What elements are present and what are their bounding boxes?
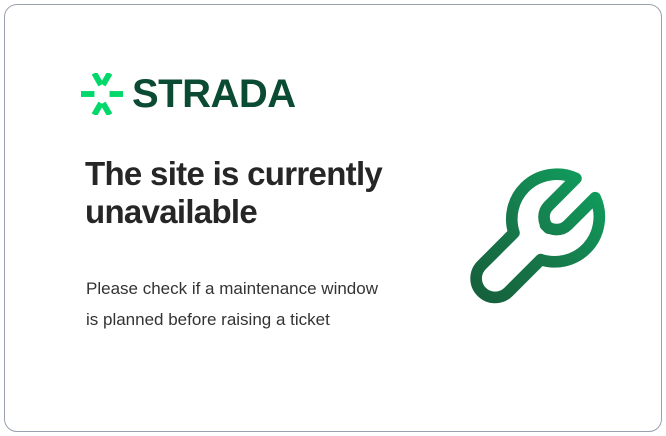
error-page: STRADA The site is currently unavailable… — [0, 0, 666, 436]
strada-asterisk-icon — [81, 73, 123, 115]
brand-logo: STRADA — [81, 73, 296, 115]
status-card: STRADA The site is currently unavailable… — [4, 4, 662, 432]
page-title: The site is currently unavailable — [85, 155, 415, 232]
page-description: Please check if a maintenance window is … — [86, 273, 386, 335]
wrench-icon — [460, 162, 615, 317]
brand-wordmark: STRADA — [132, 74, 296, 114]
